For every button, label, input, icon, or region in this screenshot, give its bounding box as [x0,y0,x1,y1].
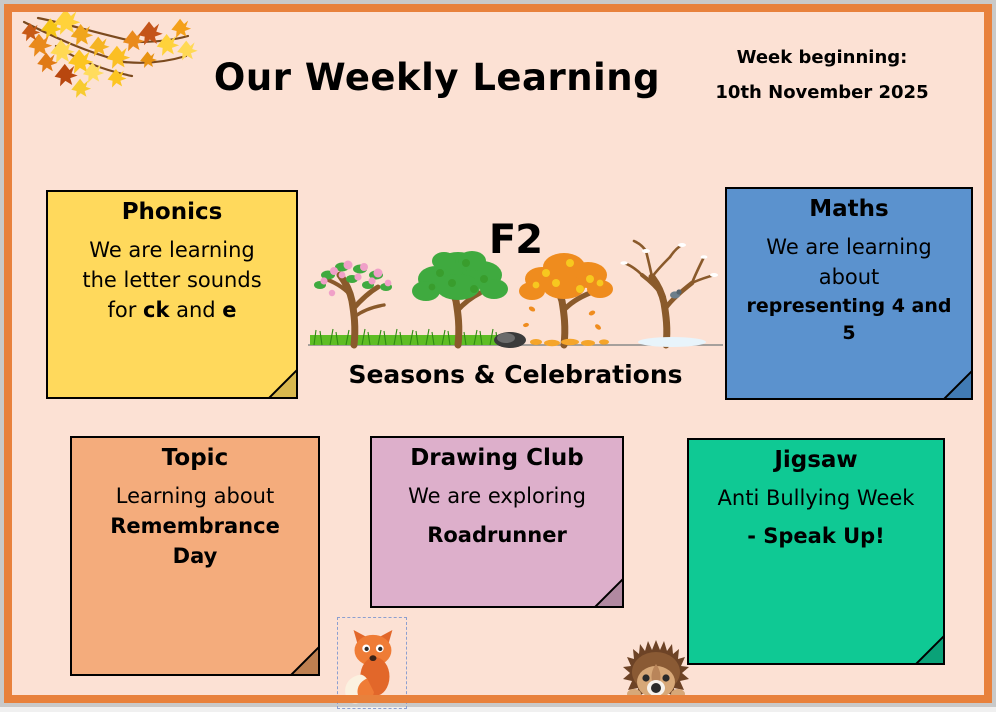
week-beginning-block: Week beginning: 10th November 2025 [672,40,972,110]
card-jigsaw[interactable]: Jigsaw Anti Bullying Week - Speak Up! [687,438,945,665]
card-topic-line-3: Day [82,542,308,572]
rock [494,332,526,348]
autumn-leaves-branch-icon [16,12,226,127]
tree-summer [412,251,508,345]
card-phonics-line-3: for ck and e [58,296,286,326]
poster-page: Our Weekly Learning Week beginning: 10th… [0,0,996,707]
card-phonics-title: Phonics [58,200,286,225]
fox-image-container[interactable] [337,617,407,709]
folded-corner-icon [267,368,297,398]
card-topic-line-2: Remembrance [82,512,308,542]
bird [670,289,682,298]
card-maths[interactable]: Maths We are learning about representing… [725,187,973,400]
folded-corner-icon [942,369,972,399]
card-drawing-club-title: Drawing Club [382,446,612,471]
week-beginning-date: 10th November 2025 [672,75,972,110]
card-topic-line-1: Learning about [82,482,308,512]
folded-corner-icon [593,577,623,607]
card-maths-line-1: We are learning [737,233,961,263]
grass [310,329,508,345]
hedgehog-icon [620,638,692,700]
card-phonics[interactable]: Phonics We are learning the letter sound… [46,190,298,399]
card-drawing-club[interactable]: Drawing Club We are exploring Roadrunner [370,436,624,608]
fox-icon [338,618,406,708]
card-maths-line-2: about [737,263,961,293]
page-title: Our Weekly Learning [202,56,672,99]
card-phonics-line-1: We are learning [58,236,286,266]
tree-autumn [519,253,613,346]
card-jigsaw-line-2: - Speak Up! [699,522,933,552]
scene-caption: Seasons & Celebrations [308,360,723,389]
card-jigsaw-line-1: Anti Bullying Week [699,484,933,514]
card-phonics-line-2: the letter sounds [58,266,286,296]
card-topic-title: Topic [82,446,308,471]
poster-canvas: Our Weekly Learning Week beginning: 10th… [12,12,984,695]
folded-corner-icon [289,645,319,675]
card-maths-line-3: representing 4 and 5 [737,293,961,347]
card-jigsaw-title: Jigsaw [699,448,933,473]
card-drawing-club-line-2: Roadrunner [382,521,612,551]
week-beginning-label: Week beginning: [672,40,972,75]
card-drawing-club-line-1: We are exploring [382,482,612,512]
year-group-label: F2 [308,217,723,263]
folded-corner-icon [914,634,944,664]
card-topic[interactable]: Topic Learning about Remembrance Day [70,436,320,676]
card-maths-title: Maths [737,197,961,222]
